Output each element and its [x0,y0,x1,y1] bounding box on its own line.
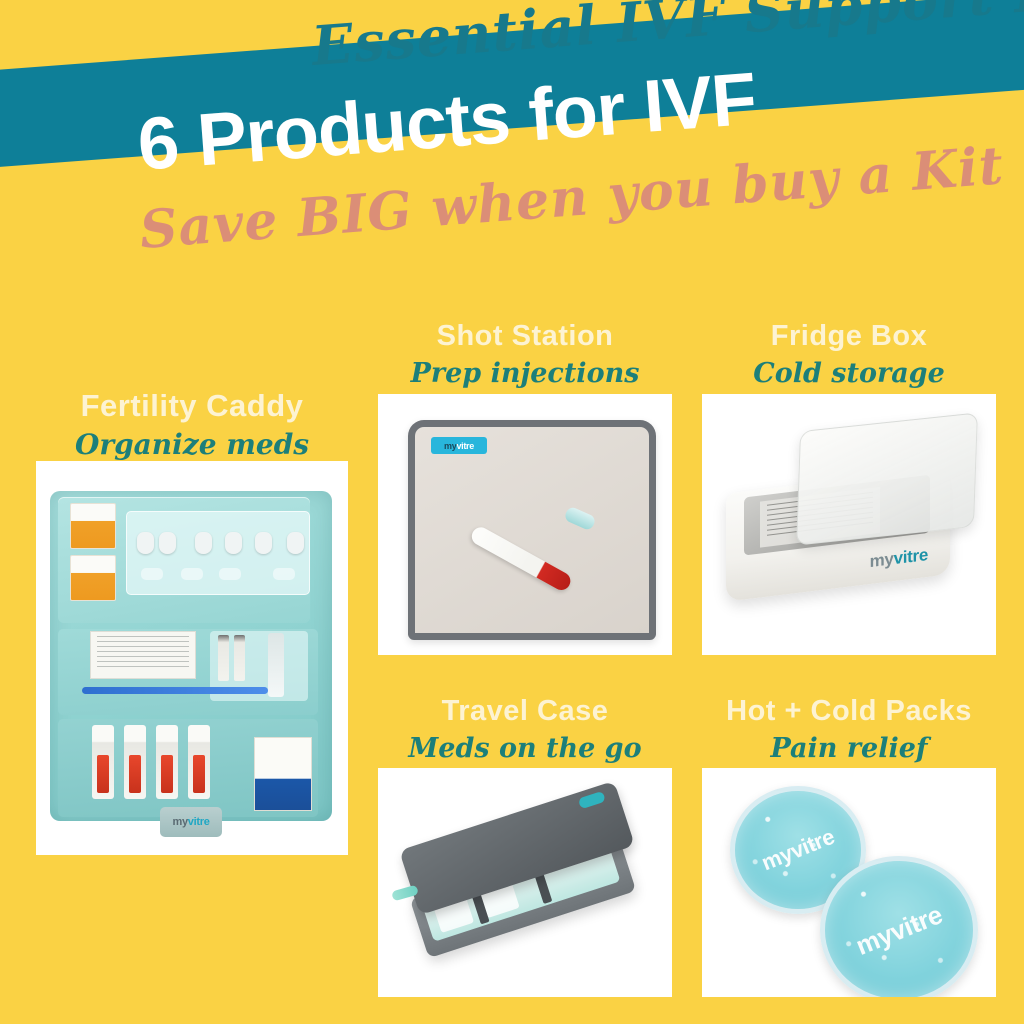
caddy-cap-tray [126,511,310,595]
poster-header: Essential IVF Support Kit 6 Products for… [0,0,1024,300]
gel-pack: myvitre [820,856,978,997]
brand-logo: myvitre [851,899,946,962]
caddy-orange-box-2 [70,555,116,601]
caddy-top-tray-area [58,497,310,623]
product-title-hot-cold-packs: Hot + Cold Packs [696,695,1002,728]
caddy-blue-pen [82,687,268,694]
product-image-shot-station[interactable]: myvitre [378,394,672,655]
caddy-slot [181,568,203,580]
caddy-cap [255,532,272,554]
fridge-box-lid [796,412,978,545]
caddy-cap [195,532,212,554]
caddy-body: myvitre [50,491,332,821]
caddy-cap [137,532,154,554]
brand-logo: myvitre [870,545,928,572]
caddy-vial [234,635,245,681]
product-title-travel-case: Travel Case [378,695,672,728]
brand-logo: myvitre [172,816,209,828]
caddy-latch[interactable]: myvitre [160,807,222,837]
brand-logo: myvitre [431,437,487,454]
caddy-slot [219,568,241,580]
caddy-med-carton [254,737,312,811]
caddy-lower-tray [58,719,318,817]
marker-pen [469,524,574,593]
caddy-leaflet [90,631,196,679]
product-subtitle-fertility-caddy: Organize meds [36,428,348,461]
caddy-syringe [124,725,146,799]
product-image-fridge-box[interactable]: myvitre [702,394,996,655]
caddy-slot [141,568,163,580]
product-title-fridge-box: Fridge Box [702,320,996,353]
travel-case-tab [578,791,606,809]
product-subtitle-hot-cold-packs: Pain relief [696,733,1002,764]
product-subtitle-shot-station: Prep injections [378,358,672,389]
caddy-syringe [156,725,178,799]
product-image-hot-cold-packs[interactable]: myvitre myvitre [702,768,996,997]
caddy-vial [218,635,229,681]
brand-logo: myvitre [758,824,838,877]
product-subtitle-fridge-box: Cold storage [702,358,996,389]
caddy-orange-box-1 [70,503,116,549]
shot-station-mat: myvitre [408,420,656,640]
caddy-cap [287,532,304,554]
caddy-middle-tray [58,629,318,715]
caddy-slot [273,568,295,580]
pen-cap [563,506,597,532]
caddy-cap [225,532,242,554]
caddy-syringe [92,725,114,799]
caddy-syringe [188,725,210,799]
product-title-shot-station: Shot Station [378,320,672,353]
product-image-fertility-caddy[interactable]: myvitre [36,461,348,855]
product-image-travel-case[interactable] [378,768,672,997]
caddy-cap [159,532,176,554]
product-title-fertility-caddy: Fertility Caddy [36,388,348,424]
promo-poster: Essential IVF Support Kit 6 Products for… [0,0,1024,1024]
product-subtitle-travel-case: Meds on the go [378,733,672,764]
caddy-clear-syringe [268,633,284,697]
